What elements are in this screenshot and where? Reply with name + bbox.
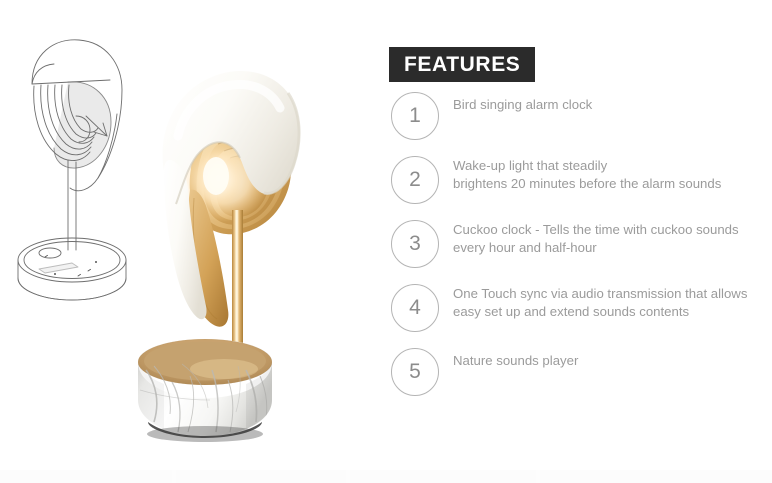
bottom-band-segment [350, 470, 536, 483]
feature-item-3[interactable]: 3 Cuckoo clock - Tells the time with cuc… [391, 220, 772, 272]
marble-base [138, 339, 272, 442]
feature-number-5: 5 [391, 348, 439, 396]
feature-number-2: 2 [391, 156, 439, 204]
feature-text-1: Bird singing alarm clock [453, 92, 772, 114]
product-photo [120, 40, 370, 450]
feature-item-4[interactable]: 4 One Touch sync via audio transmission … [391, 284, 772, 336]
feature-number-3: 3 [391, 220, 439, 268]
feature-text-4: One Touch sync via audio transmission th… [453, 284, 772, 320]
product-photo-svg [120, 40, 370, 450]
feature-number-4: 4 [391, 284, 439, 332]
feature-number-1: 1 [391, 92, 439, 140]
features-badge: FEATURES [389, 47, 535, 82]
feature-item-2[interactable]: 2 Wake-up light that steadily brightens … [391, 156, 772, 208]
product-image-panel [0, 0, 386, 470]
feature-text-2: Wake-up light that steadily brightens 20… [453, 156, 772, 192]
features-badge-label: FEATURES [404, 53, 520, 77]
feature-text-5: Nature sounds player [453, 348, 772, 370]
bottom-band-segment [176, 470, 346, 483]
bottom-band-segment [0, 470, 172, 483]
product-feature-slide: FEATURES 1 Bird singing alarm clock 2 Wa… [0, 0, 772, 483]
feature-text-3: Cuckoo clock - Tells the time with cucko… [453, 220, 772, 256]
feature-item-5[interactable]: 5 Nature sounds player [391, 348, 772, 400]
bottom-edge-band [0, 470, 772, 483]
bottom-band-segment [540, 470, 772, 483]
features-panel: FEATURES 1 Bird singing alarm clock 2 Wa… [389, 0, 772, 483]
feature-item-1[interactable]: 1 Bird singing alarm clock [391, 92, 772, 144]
